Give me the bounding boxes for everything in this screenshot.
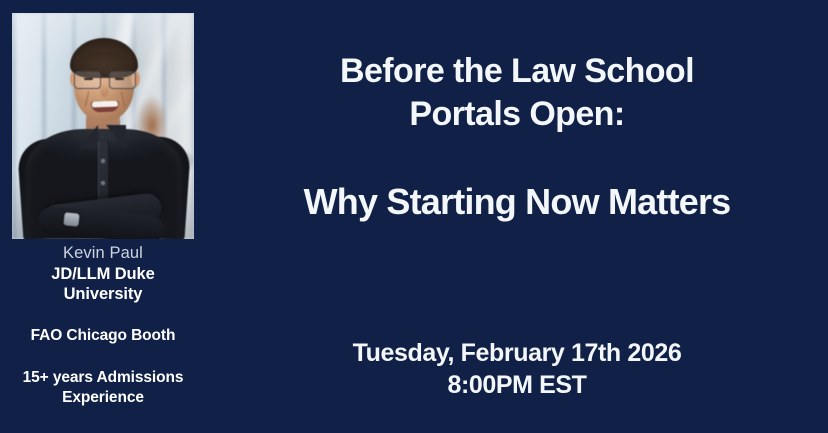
teeth <box>92 101 118 108</box>
event-date: Tuesday, February 17th 2026 <box>206 337 828 369</box>
speaker-credential-line-1: JD/LLM Duke <box>0 264 206 284</box>
wristwatch <box>63 212 79 226</box>
spacer <box>0 346 206 368</box>
event-headline-line-2: Portals Open: <box>206 93 828 136</box>
event-time: 8:00PM EST <box>206 369 828 401</box>
speaker-photo <box>12 13 194 239</box>
spacer <box>0 304 206 326</box>
shirt-button <box>101 181 105 185</box>
shirt-button <box>101 159 105 163</box>
speaker-credential-line-2: University <box>0 284 206 304</box>
speaker-experience-line-1: 15+ years Admissions <box>0 368 206 388</box>
event-headline: Before the Law School Portals Open: <box>206 50 828 136</box>
event-headline-line-1: Before the Law School <box>206 50 828 93</box>
webinar-promo-poster: Kevin Paul JD/LLM Duke University FAO Ch… <box>0 0 828 433</box>
event-datetime: Tuesday, February 17th 2026 8:00PM EST <box>206 337 828 401</box>
speaker-figure <box>12 13 194 239</box>
event-subheadline: Why Starting Now Matters <box>206 180 828 224</box>
speaker-panel: Kevin Paul JD/LLM Duke University FAO Ch… <box>0 0 206 433</box>
nose <box>100 83 109 97</box>
speaker-affiliation: FAO Chicago Booth <box>0 326 206 346</box>
shirt-collar-right <box>106 125 126 149</box>
speaker-name: Kevin Paul <box>0 243 206 264</box>
glasses-bridge <box>99 77 109 78</box>
speaker-details: Kevin Paul JD/LLM Duke University FAO Ch… <box>0 243 206 408</box>
speaker-experience-line-2: Experience <box>0 388 206 408</box>
shirt-collar-left <box>78 125 98 149</box>
event-panel: Before the Law School Portals Open: Why … <box>206 0 828 433</box>
